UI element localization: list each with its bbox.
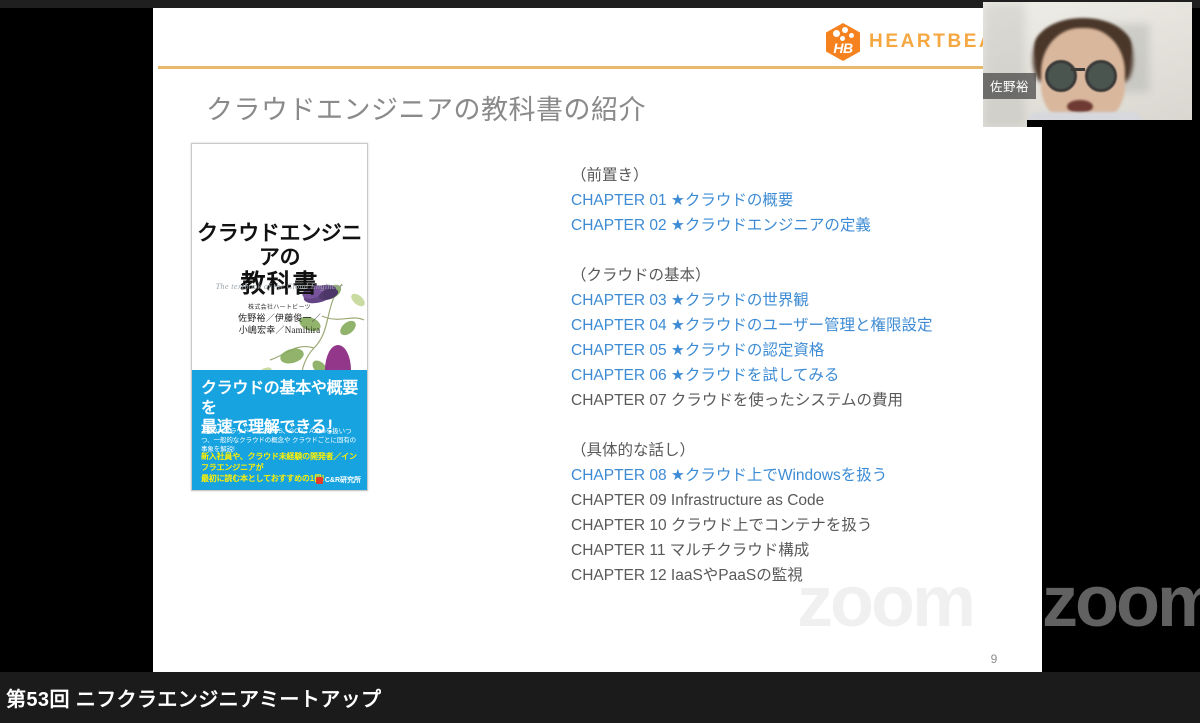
toc-chapter-08: CHAPTER 08 ★クラウド上でWindowsを扱う bbox=[571, 463, 1011, 488]
hexagon-logo-icon: HB bbox=[826, 23, 860, 61]
slide-title: クラウドエンジニアの教科書の紹介 bbox=[206, 88, 646, 127]
toc-section-heading: （前置き） bbox=[571, 163, 1011, 188]
publisher-imprint: C&R研究所 bbox=[316, 475, 361, 485]
toc-spacer bbox=[571, 413, 1011, 438]
slide-page-number: 9 bbox=[571, 652, 1042, 666]
toc-chapter-03: CHAPTER 03 ★クラウドの世界観 bbox=[571, 288, 1011, 313]
toc-chapter-09: CHAPTER 09 Infrastructure as Code bbox=[571, 488, 1011, 513]
toc-section-0: （前置き） CHAPTER 01 ★クラウドの概要 CHAPTER 02 ★クラ… bbox=[571, 163, 1011, 238]
glasses-left-lens bbox=[1045, 60, 1077, 92]
book-authors-line1: 佐野裕／伊藤俊一／ bbox=[192, 312, 367, 324]
toc-section-2: （具体的な話し） CHAPTER 08 ★クラウド上でWindowsを扱う CH… bbox=[571, 438, 1011, 588]
logo-mark-text: HB bbox=[826, 40, 860, 56]
toc-section-heading: （具体的な話し） bbox=[571, 438, 1011, 463]
presentation-slide: HB HEARTBEATS クラウドエンジニアの教科書の紹介 bbox=[153, 8, 1042, 672]
obi-yellow-line1: 新入社員や、クラウド未経験の開発者／インフラエンジニアが bbox=[201, 452, 361, 474]
publisher-name: C&R研究所 bbox=[325, 475, 361, 485]
book-obi-band: クラウドの基本や概要を 最速で理解できる！ 主要3大クラウドであるAWS、GCP… bbox=[192, 370, 367, 490]
event-title-bar: 第53回 ニフクラエンジニアミートアップ bbox=[0, 672, 1200, 723]
book-cover-image: クラウドエンジニアの 教科書 The textbook of the Cloud… bbox=[191, 143, 368, 491]
toc-section-1: （クラウドの基本） CHAPTER 03 ★クラウドの世界観 CHAPTER 0… bbox=[571, 263, 1011, 413]
toc-section-heading: （クラウドの基本） bbox=[571, 263, 1011, 288]
zoom-watermark-dark: zoom bbox=[1042, 566, 1200, 638]
toc-chapter-07: CHAPTER 07 クラウドを使ったシステムの費用 bbox=[571, 388, 1011, 413]
slide-footnote: （★印は佐野執筆部分） bbox=[571, 618, 1042, 638]
chapter-list: （前置き） CHAPTER 01 ★クラウドの概要 CHAPTER 02 ★クラ… bbox=[571, 163, 1011, 588]
toc-chapter-12: CHAPTER 12 IaaSやPaaSの監視 bbox=[571, 563, 1011, 588]
toc-chapter-11: CHAPTER 11 マルチクラウド構成 bbox=[571, 538, 1011, 563]
toc-chapter-04: CHAPTER 04 ★クラウドのユーザー管理と権限設定 bbox=[571, 313, 1011, 338]
toc-chapter-10: CHAPTER 10 クラウド上でコンテナを扱う bbox=[571, 513, 1011, 538]
toc-spacer bbox=[571, 238, 1011, 263]
toc-chapter-06: CHAPTER 06 ★クラウドを試してみる bbox=[571, 363, 1011, 388]
zoom-screen-share-window: HB HEARTBEATS クラウドエンジニアの教科書の紹介 bbox=[0, 0, 1200, 723]
video-background-left bbox=[983, 2, 1025, 127]
obi-headline-line1: クラウドの基本や概要を bbox=[201, 379, 367, 418]
video-letterbox bbox=[1027, 120, 1192, 127]
participant-name-badge: 佐野裕 bbox=[983, 73, 1036, 99]
event-title: 第53回 ニフクラエンジニアミートアップ bbox=[6, 683, 381, 712]
glasses-right-lens bbox=[1085, 60, 1117, 92]
book-subtitle: The textbook of the Cloud Engineer bbox=[192, 282, 367, 291]
toc-chapter-05: CHAPTER 05 ★クラウドの認定資格 bbox=[571, 338, 1011, 363]
toc-chapter-02: CHAPTER 02 ★クラウドエンジニアの定義 bbox=[571, 213, 1011, 238]
book-title-line1: クラウドエンジニアの bbox=[197, 221, 362, 269]
glasses-bridge bbox=[1071, 68, 1085, 71]
book-authors: 佐野裕／伊藤俊一／ 小嶋宏幸／Namihira bbox=[192, 312, 367, 336]
book-publisher-company: 株式会社ハートビーツ bbox=[192, 302, 367, 311]
header-divider bbox=[158, 66, 1042, 69]
participant-video-tile[interactable]: 佐野裕 bbox=[983, 2, 1192, 127]
toc-chapter-01: CHAPTER 01 ★クラウドの概要 bbox=[571, 188, 1011, 213]
obi-body-text: 主要3大クラウドであるAWS、GCP、Azureを扱いつつ、一般的なクラウドの概… bbox=[201, 427, 359, 455]
publisher-logo-icon bbox=[316, 477, 323, 484]
book-authors-line2: 小嶋宏幸／Namihira bbox=[192, 324, 367, 336]
